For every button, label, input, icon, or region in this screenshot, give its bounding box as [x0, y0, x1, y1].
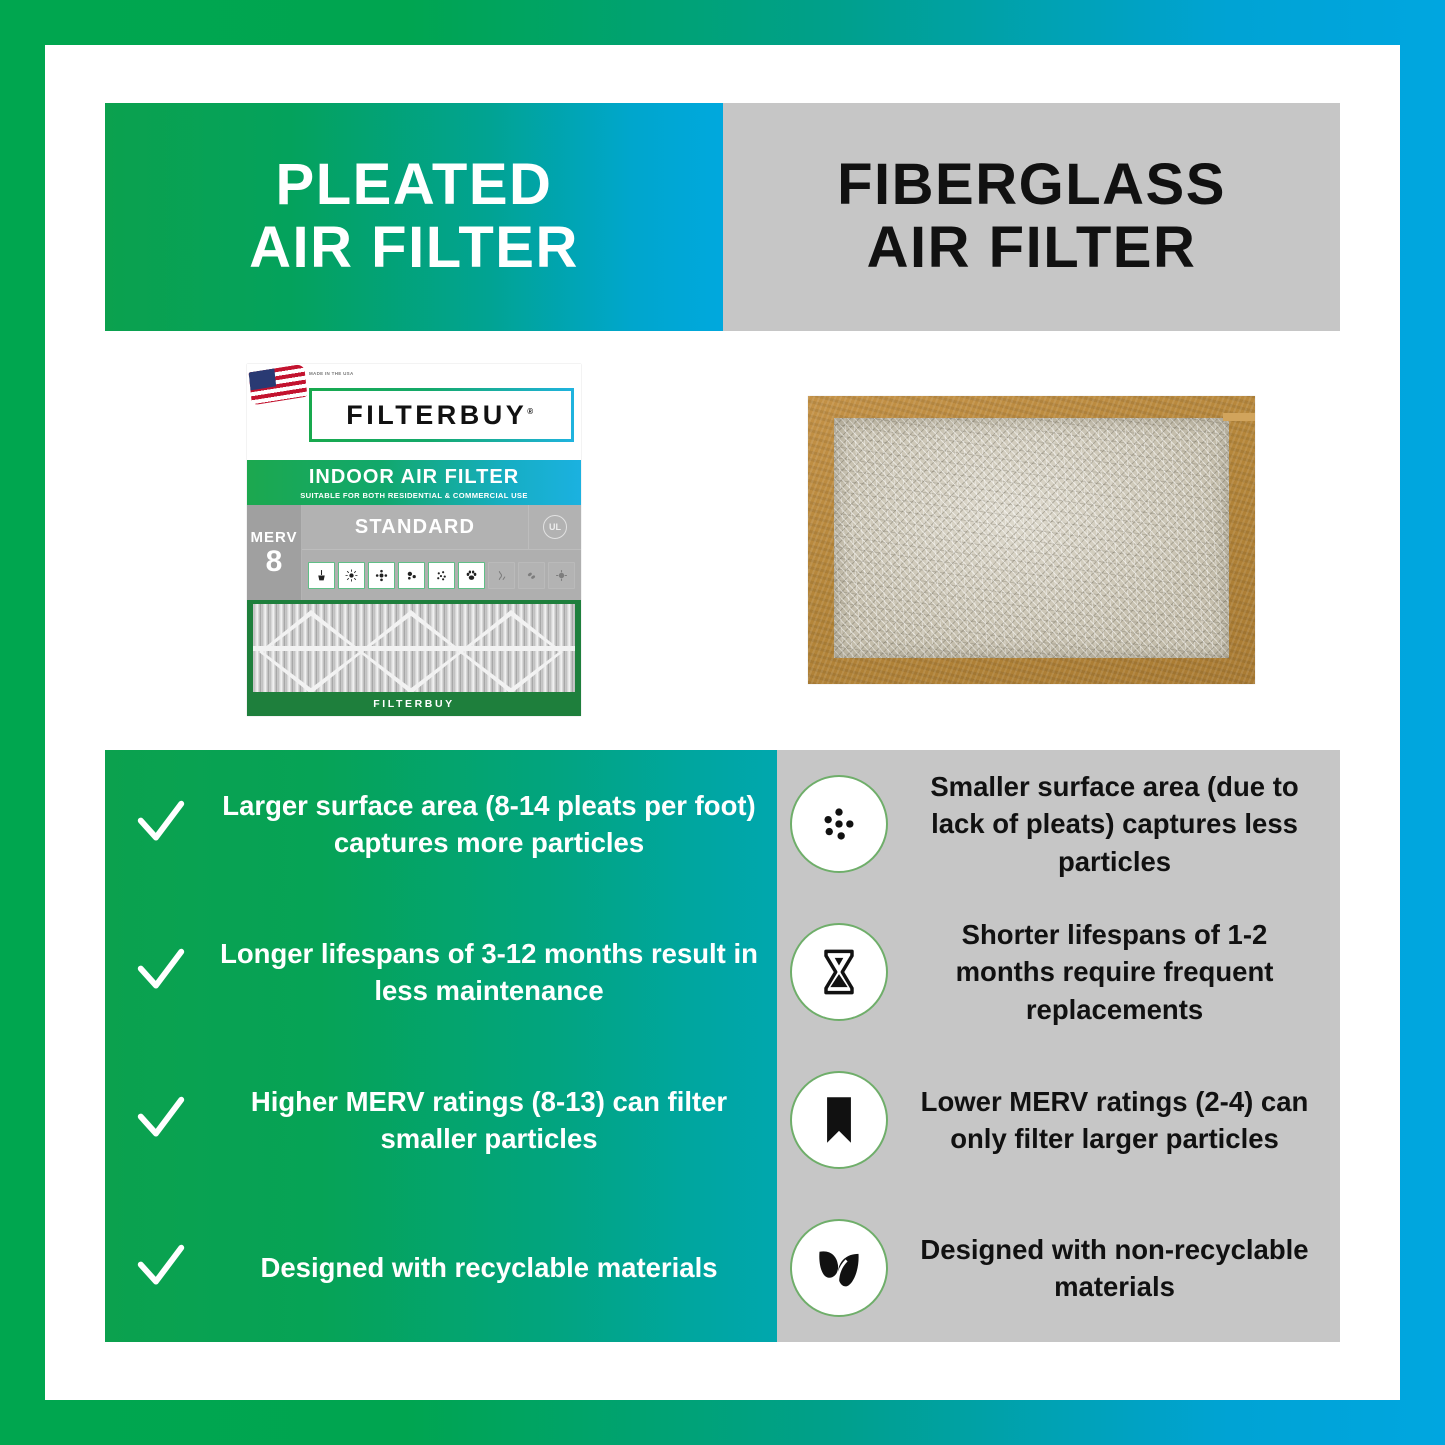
capability-icons-row: [302, 550, 581, 600]
package-spec-section: MERV 8 STANDARD UL: [247, 505, 581, 600]
comparison-rows: Larger surface area (8-14 pleats per foo…: [105, 750, 1340, 1342]
comparison-section: Larger surface area (8-14 pleats per foo…: [105, 750, 1340, 1342]
pleat-texture: [253, 604, 575, 692]
support-diamond: [259, 610, 363, 692]
row-pleated-text: Longer lifespans of 3-12 months result i…: [217, 935, 777, 1009]
row-pleated-text: Designed with recyclable materials: [217, 1249, 777, 1286]
header-pleated-title: PLEATED AIR FILTER: [249, 154, 579, 279]
product-images-row: MADE IN THE USA FILTERBUY® INDOOR AIR FI…: [105, 331, 1340, 749]
brand-name: FILTERBUY®: [346, 400, 536, 431]
particles-icon: [790, 775, 888, 873]
checkmark-icon: [105, 797, 217, 851]
smoke-icon: [488, 562, 515, 589]
leaf-sprout-icon: [790, 1219, 888, 1317]
comparison-infographic: PLEATED AIR FILTER FIBERGLASS AIR FILTER…: [0, 0, 1445, 1445]
pet-dander-icon: [458, 562, 485, 589]
row-fiberglass-text: Lower MERV ratings (2-4) can only filter…: [901, 1083, 1340, 1157]
row-fiberglass-text: Shorter lifespans of 1-2 months require …: [901, 916, 1340, 1027]
merv-value: 8: [266, 547, 283, 577]
checkmark-icon: [105, 1241, 217, 1295]
usa-flag-icon: [249, 364, 308, 405]
comparison-row: Designed with recyclable materials Desig…: [105, 1194, 1340, 1342]
package-footer-brand: FILTERBUY: [247, 692, 581, 716]
row-pleated-text: Higher MERV ratings (8-13) can filter sm…: [217, 1083, 777, 1157]
fiberglass-filter-frame: [808, 396, 1255, 684]
header-band: PLEATED AIR FILTER FIBERGLASS AIR FILTER: [105, 103, 1340, 331]
fiberglass-mesh-media: [834, 418, 1229, 658]
bacteria-icon: [518, 562, 545, 589]
row-center-badge: [777, 775, 901, 873]
ul-certification-mark: UL: [528, 505, 581, 549]
made-in-usa-label: MADE IN THE USA: [309, 371, 354, 378]
virus-icon: [548, 562, 575, 589]
dust-mite-debris-icon: [338, 562, 365, 589]
checkmark-icon: [105, 945, 217, 999]
merv-rating-block: MERV 8: [247, 505, 302, 600]
pleated-media-view: FILTERBUY: [247, 600, 581, 716]
package-product-band: INDOOR AIR FILTER SUITABLE FOR BOTH RESI…: [247, 460, 581, 505]
checkmark-icon: [105, 1093, 217, 1147]
package-spec-right: STANDARD UL: [302, 505, 581, 600]
merv-label: MERV: [250, 529, 297, 546]
fiberglass-filter-image: [723, 331, 1340, 749]
frame-corner-tab: [1223, 413, 1255, 421]
row-fiberglass-text: Designed with non-recyclable materials: [901, 1231, 1340, 1305]
package-band-title: INDOOR AIR FILTER: [309, 466, 519, 489]
row-center-badge: [777, 923, 901, 1021]
support-diamond: [359, 610, 463, 692]
dust-icon: [428, 562, 455, 589]
pollen-icon: [368, 562, 395, 589]
ul-logo-icon: UL: [543, 515, 567, 539]
package-grade-label: STANDARD: [302, 516, 528, 539]
package-band-subtitle: SUITABLE FOR BOTH RESIDENTIAL & COMMERCI…: [300, 491, 527, 500]
infographic-card: PLEATED AIR FILTER FIBERGLASS AIR FILTER…: [45, 45, 1400, 1400]
header-fiberglass-title: FIBERGLASS AIR FILTER: [837, 154, 1226, 279]
bookmark-ribbon-icon: [790, 1071, 888, 1169]
header-fiberglass-panel: FIBERGLASS AIR FILTER: [723, 103, 1340, 331]
row-pleated-text: Larger surface area (8-14 pleats per foo…: [217, 787, 777, 861]
household-dust-lint-icon: [308, 562, 335, 589]
brand-logo-box: FILTERBUY®: [309, 388, 574, 442]
pleated-filter-image: MADE IN THE USA FILTERBUY® INDOOR AIR FI…: [105, 331, 723, 749]
package-top-section: MADE IN THE USA FILTERBUY®: [247, 364, 581, 460]
row-center-badge: [777, 1071, 901, 1169]
hourglass-icon: [790, 923, 888, 1021]
comparison-row: Larger surface area (8-14 pleats per foo…: [105, 750, 1340, 898]
filterbuy-package: MADE IN THE USA FILTERBUY® INDOOR AIR FI…: [247, 364, 581, 716]
comparison-row: Longer lifespans of 3-12 months result i…: [105, 898, 1340, 1046]
comparison-row: Higher MERV ratings (8-13) can filter sm…: [105, 1046, 1340, 1194]
row-fiberglass-text: Smaller surface area (due to lack of ple…: [901, 768, 1340, 879]
package-grade-row: STANDARD UL: [302, 505, 581, 550]
row-center-badge: [777, 1219, 901, 1317]
support-diamond: [459, 610, 563, 692]
header-pleated-panel: PLEATED AIR FILTER: [105, 103, 723, 331]
mold-icon: [398, 562, 425, 589]
